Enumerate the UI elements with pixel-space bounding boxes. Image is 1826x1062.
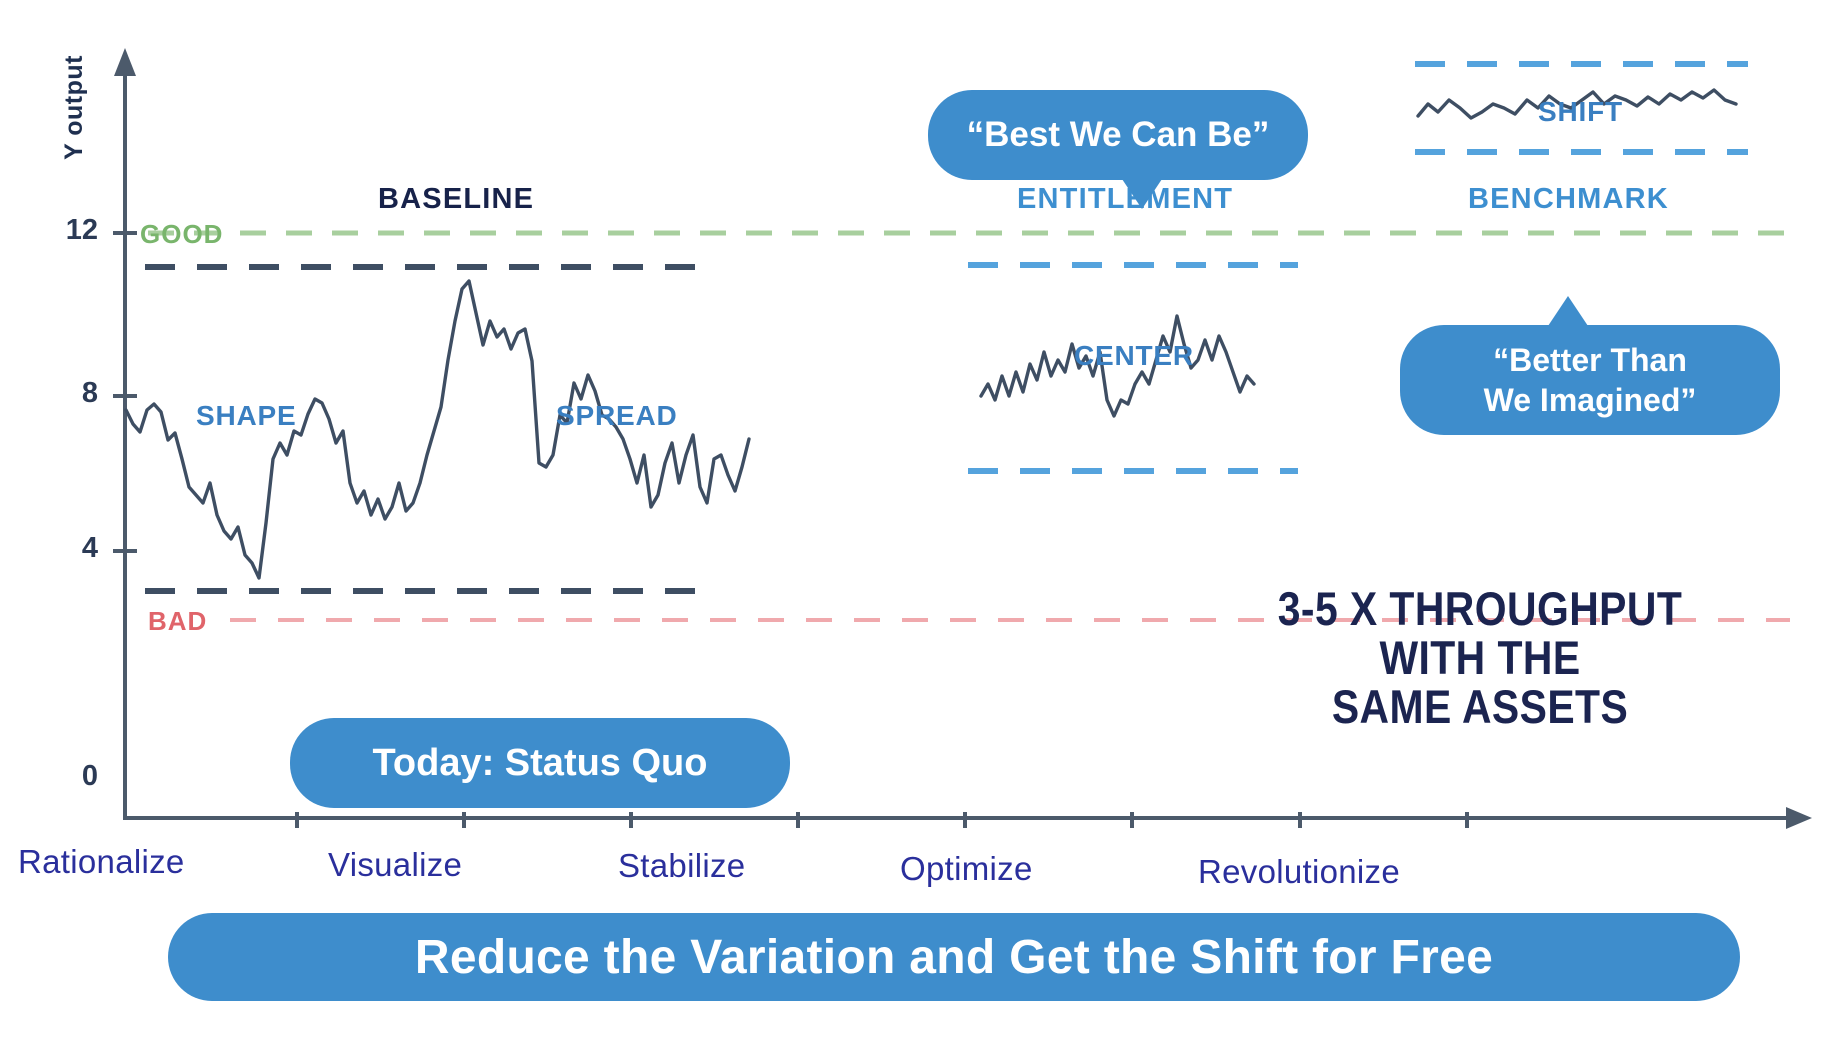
callout-better-than-we-imagined-tail [1548, 296, 1588, 326]
x-tick-revolutionize: Revolutionize [1198, 853, 1400, 891]
callout-best-we-can-be-text: “Best We Can Be” [967, 115, 1270, 155]
x-tick-stabilize: Stabilize [618, 847, 745, 885]
x-axis [125, 807, 1812, 829]
callout-better-line1: “Better Than [1493, 340, 1687, 380]
callout-better-line2: We Imagined” [1484, 380, 1697, 420]
inline-label-shift: SHIFT [1538, 96, 1623, 128]
bad-limit-label: BAD [148, 606, 207, 637]
callout-today-status-quo[interactable]: Today: Status Quo [290, 718, 790, 808]
callout-today-status-quo-text: Today: Status Quo [373, 742, 708, 785]
x-tick-visualize: Visualize [328, 846, 462, 884]
callout-best-we-can-be[interactable]: “Best We Can Be” [928, 90, 1308, 180]
x-tick-optimize: Optimize [900, 850, 1033, 888]
inline-label-shape: SHAPE [196, 400, 296, 432]
y-tick-4: 4 [38, 532, 98, 565]
inline-label-center: CENTER [1074, 340, 1194, 372]
throughput-line-2: WITH THE [1276, 634, 1685, 683]
y-axis [113, 48, 137, 820]
slide-canvas: Y output 12 8 4 0 Rationalize Visualize … [0, 0, 1826, 1062]
callout-better-than-we-imagined[interactable]: “Better Than We Imagined” [1400, 325, 1780, 435]
y-tick-8: 8 [38, 377, 98, 410]
x-tick-rationalize: Rationalize [18, 843, 185, 881]
y-axis-title: Y output [62, 55, 92, 160]
throughput-line-1: 3-5 X THROUGHPUT [1276, 585, 1685, 634]
bottom-banner[interactable]: Reduce the Variation and Get the Shift f… [168, 913, 1740, 1001]
chart-plot-area [0, 0, 1826, 1062]
throughput-note: 3-5 X THROUGHPUT WITH THE SAME ASSETS [1276, 585, 1685, 732]
throughput-line-3: SAME ASSETS [1276, 683, 1685, 732]
region-label-baseline: BASELINE [378, 183, 534, 216]
callout-best-we-can-be-tail [1122, 179, 1162, 209]
bottom-banner-text: Reduce the Variation and Get the Shift f… [415, 930, 1493, 985]
region-label-benchmark: BENCHMARK [1468, 183, 1669, 216]
inline-label-spread: SPREAD [556, 400, 678, 432]
y-tick-12: 12 [38, 214, 98, 247]
y-tick-0: 0 [38, 760, 98, 793]
good-limit-label: GOOD [140, 219, 223, 250]
